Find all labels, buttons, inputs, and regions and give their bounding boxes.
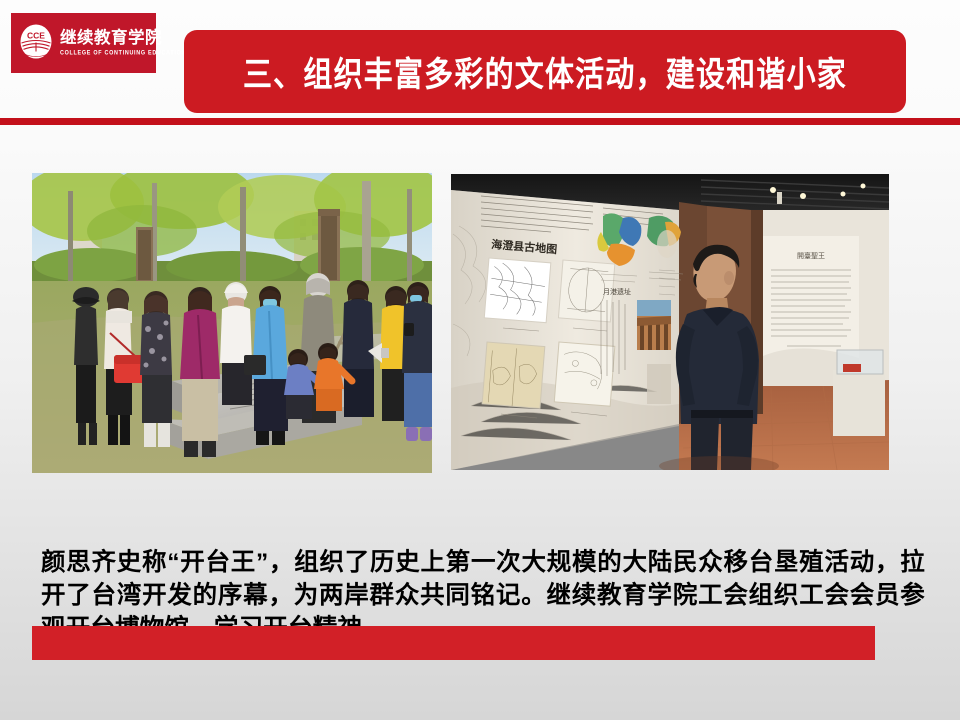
page-title: 三、组织丰富多彩的文体活动，建设和谐小家: [243, 47, 847, 97]
photo-group-at-stone-monument: [32, 173, 432, 473]
photo-museum-visitor-exhibit: 開臺聖王: [451, 174, 889, 470]
slide-canvas: CCE 继续教育学院 COLLEGE OF CONTINUING EDUCATI…: [0, 0, 960, 720]
svg-text:CCE: CCE: [27, 30, 45, 40]
footer-accent-bar: [32, 626, 875, 660]
institution-logo: CCE 继续教育学院 COLLEGE OF CONTINUING EDUCATI…: [11, 13, 156, 73]
logo-english-name: COLLEGE OF CONTINUING EDUCATION: [60, 51, 186, 57]
header-divider-rule: [0, 118, 960, 125]
svg-text:月港遗址: 月港遗址: [603, 287, 631, 296]
logo-chinese-name: 继续教育学院: [60, 30, 186, 47]
slide-title-banner: 三、组织丰富多彩的文体活动，建设和谐小家: [184, 30, 906, 113]
cce-emblem-icon: CCE: [17, 23, 55, 64]
logo-text-block: 继续教育学院 COLLEGE OF CONTINUING EDUCATION: [60, 30, 186, 56]
svg-text:開臺聖王: 開臺聖王: [797, 251, 825, 260]
